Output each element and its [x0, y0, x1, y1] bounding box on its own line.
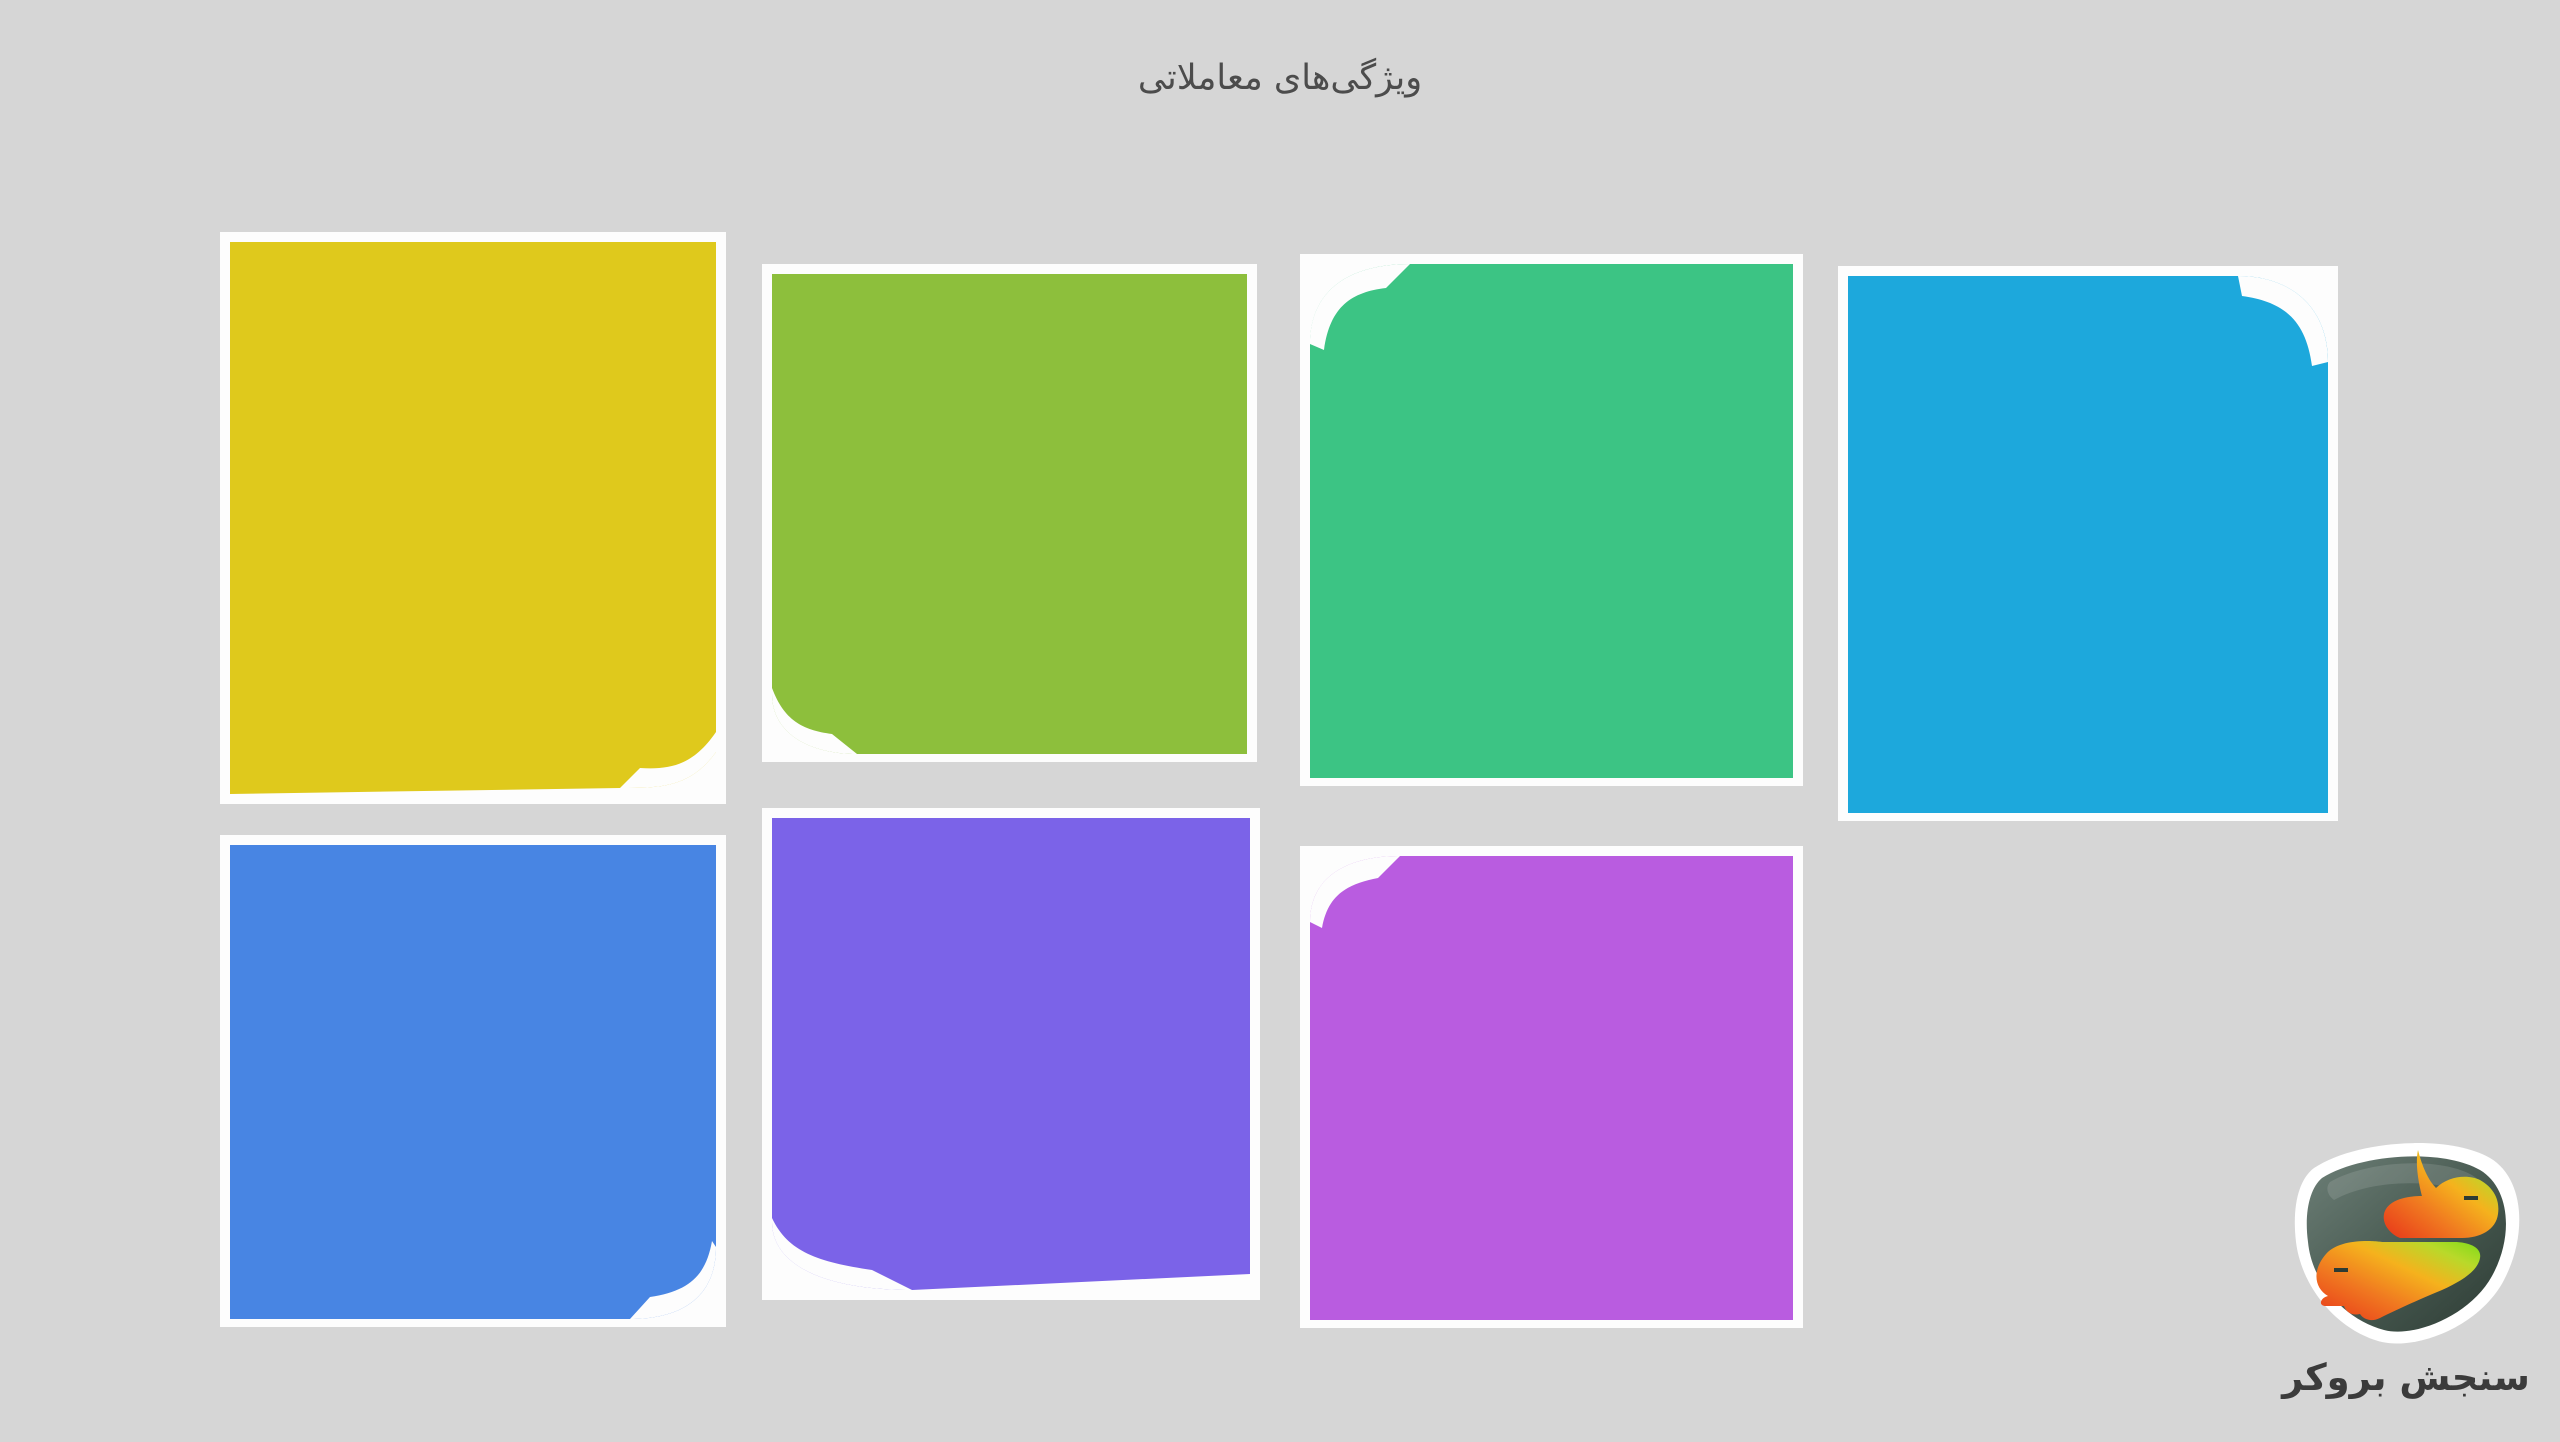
feature-card-markets[interactable]: تنوع بازارها پشتیبانی از انواع مختلف باز…	[1310, 856, 1793, 1316]
shield-lock-icon	[256, 891, 690, 1039]
card-description: به سرعتی اشاره دارد که معاملات اجرا می‌ش…	[256, 576, 690, 647]
candlestick-up-arrow-icon	[1336, 896, 1767, 1048]
speed-gauge-arrow-icon	[256, 284, 690, 452]
brand-name: سنجش بروکر	[2256, 1356, 2556, 1399]
card-title: حساب های مختلف	[1336, 484, 1767, 528]
brand-logo[interactable]: سنجش بروکر	[2256, 1138, 2556, 1438]
card-description: انواع مختلف حساب‌ها برای برآورده کردن نی…	[1336, 558, 1767, 629]
person-credit-card-icon	[1336, 294, 1767, 444]
feature-card-accounts[interactable]: حساب های مختلف انواع مختلف حساب‌ها برای …	[1310, 264, 1793, 774]
gear-thumbs-up-icon	[1874, 316, 2302, 466]
feature-card-speed[interactable]: سرعت اجرای معاملات به سرعتی اشاره دارد ک…	[230, 242, 716, 792]
bull-bear-shield-logo	[2272, 1138, 2540, 1358]
feature-card-robots[interactable]: پشتیبانی از ربات های معاملاتی پشتیبانی ا…	[1848, 276, 2328, 809]
page-title: ویژگی‌های معاملاتی	[0, 58, 2560, 98]
card-title: تنوع بازارها	[1336, 1094, 1767, 1138]
feature-card-security[interactable]: امنیت بالا بر اهمیت معاملات امن تأکید می…	[230, 845, 716, 1315]
card-title: سرعت اجرای معاملات	[256, 492, 690, 536]
card-title: پشتیبانی از ربات های معاملاتی	[1874, 502, 2302, 589]
card-title: پشتیبانی 24 ساعته	[798, 1046, 1224, 1090]
card-description: پشتیبانی از انواع مختلف بازارها.	[1336, 1170, 1767, 1206]
card-description: به تفاوت کم بین قیمت‌های خرید و فروش اشا…	[798, 576, 1221, 647]
headset-smiley-icon	[798, 854, 1224, 1006]
card-description: پشتیبانی از سیستم‌های معاملاتی خودکار.	[1874, 621, 2302, 657]
feature-card-support[interactable]: پشتیبانی 24 ساعته دسترس‌پذیری کمک در تما…	[772, 818, 1250, 1288]
card-title: اسپرد های رقابتی	[798, 502, 1221, 546]
card-description: بر اهمیت معاملات امن تأکید می‌کند.	[256, 1169, 690, 1205]
feature-card-spread[interactable]: اسپرد های رقابتی به تفاوت کم بین قیمت‌ها…	[772, 274, 1247, 750]
card-description: دسترس‌پذیری کمک در تمام زمان‌ها.	[798, 1118, 1224, 1154]
card-title: امنیت بالا	[256, 1087, 690, 1131]
declining-bar-chart-arrow-icon	[798, 314, 1221, 464]
